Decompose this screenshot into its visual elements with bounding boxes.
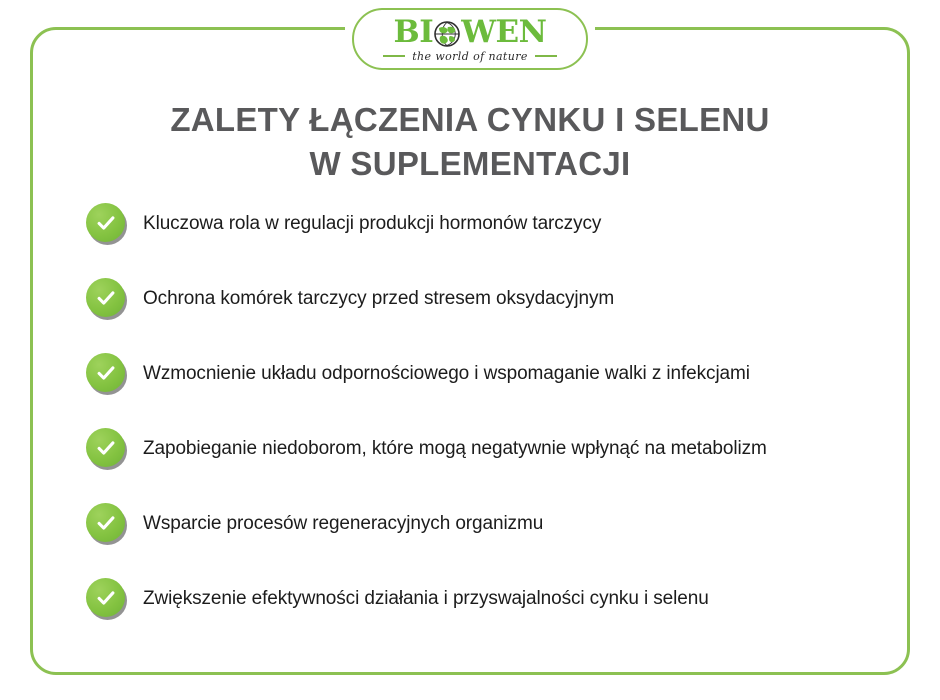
list-item-label: Ochrona komórek tarczycy przed stresem o… [143, 278, 614, 320]
list-item: Wzmocnienie układu odpornościowego i wsp… [86, 353, 876, 428]
check-circle-body [86, 428, 125, 467]
check-circle-icon [86, 503, 128, 545]
list-item: Wsparcie procesów regeneracyjnych organi… [86, 503, 876, 578]
check-circle-body [86, 278, 125, 317]
globe-icon [434, 21, 460, 47]
page-title: ZALETY ŁĄCZENIA CYNKU I SELENU W SUPLEME… [0, 98, 940, 186]
list-item-label: Wzmocnienie układu odpornościowego i wsp… [143, 353, 750, 395]
brand-logo: BI WEN the world of nature [352, 8, 588, 70]
list-item: Kluczowa rola w regulacji produkcji horm… [86, 203, 876, 278]
list-item-label: Zwiększenie efektywności działania i prz… [143, 578, 709, 620]
check-circle-icon [86, 578, 128, 620]
check-circle-icon [86, 353, 128, 395]
list-item: Zwiększenie efektywności działania i prz… [86, 578, 876, 653]
list-item-label: Wsparcie procesów regeneracyjnych organi… [143, 503, 543, 545]
tagline-dash-right [535, 55, 557, 57]
list-item-label: Kluczowa rola w regulacji produkcji horm… [143, 203, 601, 245]
list-item: Zapobieganie niedoborom, które mogą nega… [86, 428, 876, 503]
logo-text-after: WEN [461, 17, 546, 48]
infographic-poster: BI WEN the world of nature ZALETY ŁĄ [0, 0, 940, 700]
check-circle-body [86, 353, 125, 392]
check-circle-body [86, 203, 125, 242]
check-circle-icon [86, 428, 128, 470]
tagline-dash-left [383, 55, 405, 57]
logo-wordmark: BI WEN [394, 17, 547, 49]
logo-tagline: the world of nature [412, 50, 528, 63]
check-circle-body [86, 578, 125, 617]
logo-tagline-row: the world of nature [383, 50, 557, 63]
check-circle-icon [86, 203, 128, 245]
list-item-label: Zapobieganie niedoborom, które mogą nega… [143, 428, 767, 470]
logo-text-before: BI [394, 17, 434, 48]
page-title-line-2: W SUPLEMENTACJI [0, 142, 940, 186]
benefits-list: Kluczowa rola w regulacji produkcji horm… [86, 203, 876, 653]
check-circle-body [86, 503, 125, 542]
check-circle-icon [86, 278, 128, 320]
page-title-line-1: ZALETY ŁĄCZENIA CYNKU I SELENU [0, 98, 940, 142]
list-item: Ochrona komórek tarczycy przed stresem o… [86, 278, 876, 353]
